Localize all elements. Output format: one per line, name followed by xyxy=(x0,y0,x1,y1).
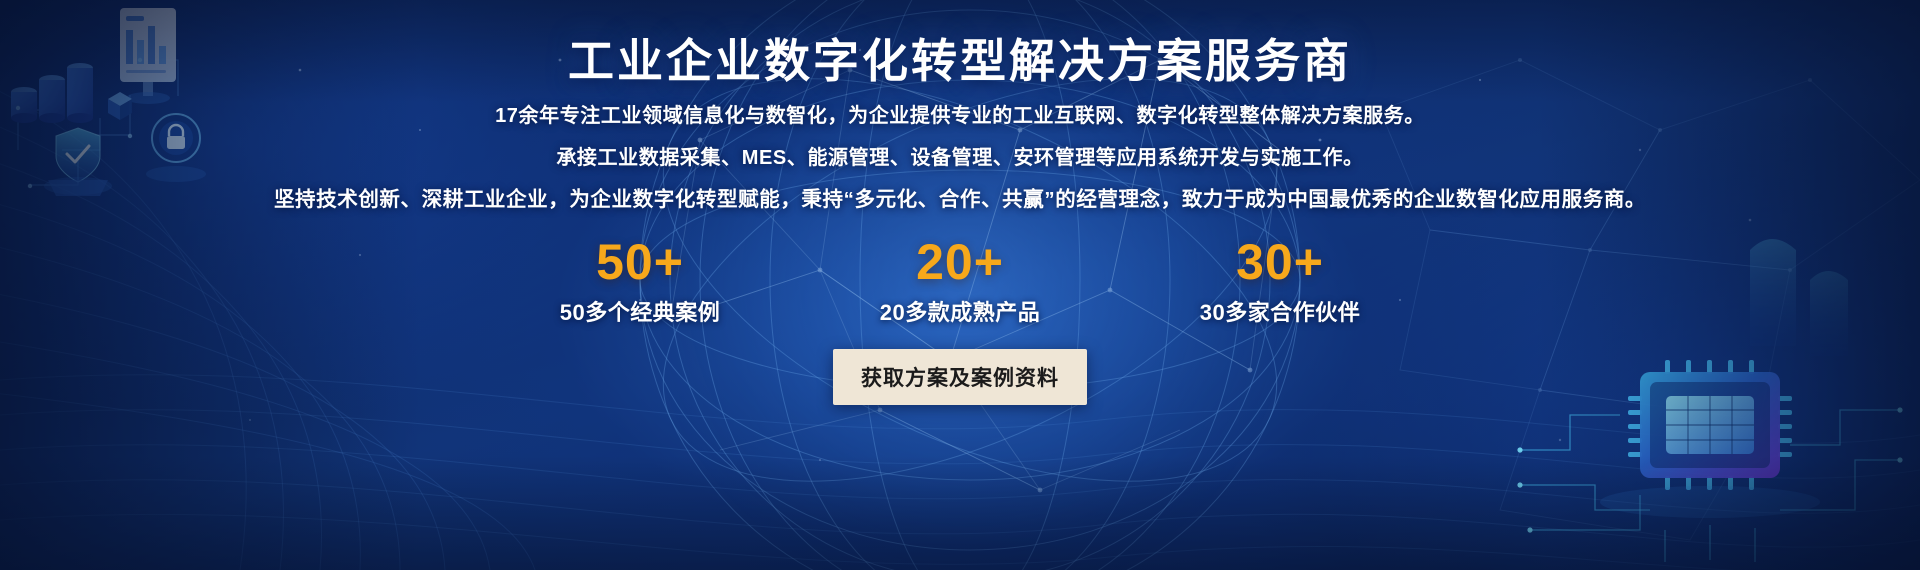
subtitle-line-3: 坚持技术创新、深耕工业企业，为企业数字化转型赋能，秉持“多元化、合作、共赢”的经… xyxy=(274,190,1646,211)
stat-item-partners: 30+ 30多家合作伙伴 xyxy=(1120,236,1440,327)
stat-item-products: 20+ 20多款成熟产品 xyxy=(800,236,1120,327)
stat-item-cases: 50+ 50多个经典案例 xyxy=(480,236,800,327)
stat-number: 50+ xyxy=(480,236,800,289)
get-solution-button[interactable]: 获取方案及案例资料 xyxy=(833,349,1087,405)
stat-number: 20+ xyxy=(800,236,1120,289)
page-title: 工业企业数字化转型解决方案服务商 xyxy=(568,36,1352,88)
stat-number: 30+ xyxy=(1120,236,1440,289)
cta-container: 获取方案及案例资料 xyxy=(833,349,1087,405)
subtitle-line-1: 17余年专注工业领域信息化与数智化，为企业提供专业的工业互联网、数字化转型整体解… xyxy=(274,106,1646,126)
subtitle-line-2: 承接工业数据采集、MES、能源管理、设备管理、安环管理等应用系统开发与实施工作。 xyxy=(274,148,1646,168)
stat-label: 20多款成熟产品 xyxy=(800,295,1120,327)
stat-label: 50多个经典案例 xyxy=(480,295,800,327)
banner-content: 工业企业数字化转型解决方案服务商 17余年专注工业领域信息化与数智化，为企业提供… xyxy=(0,0,1920,570)
hero-banner: 工业企业数字化转型解决方案服务商 17余年专注工业领域信息化与数智化，为企业提供… xyxy=(0,0,1920,570)
stats-row: 50+ 50多个经典案例 20+ 20多款成熟产品 30+ 30多家合作伙伴 xyxy=(480,236,1440,327)
subtitle-block: 17余年专注工业领域信息化与数智化，为企业提供专业的工业互联网、数字化转型整体解… xyxy=(274,106,1646,211)
stat-label: 30多家合作伙伴 xyxy=(1120,295,1440,327)
